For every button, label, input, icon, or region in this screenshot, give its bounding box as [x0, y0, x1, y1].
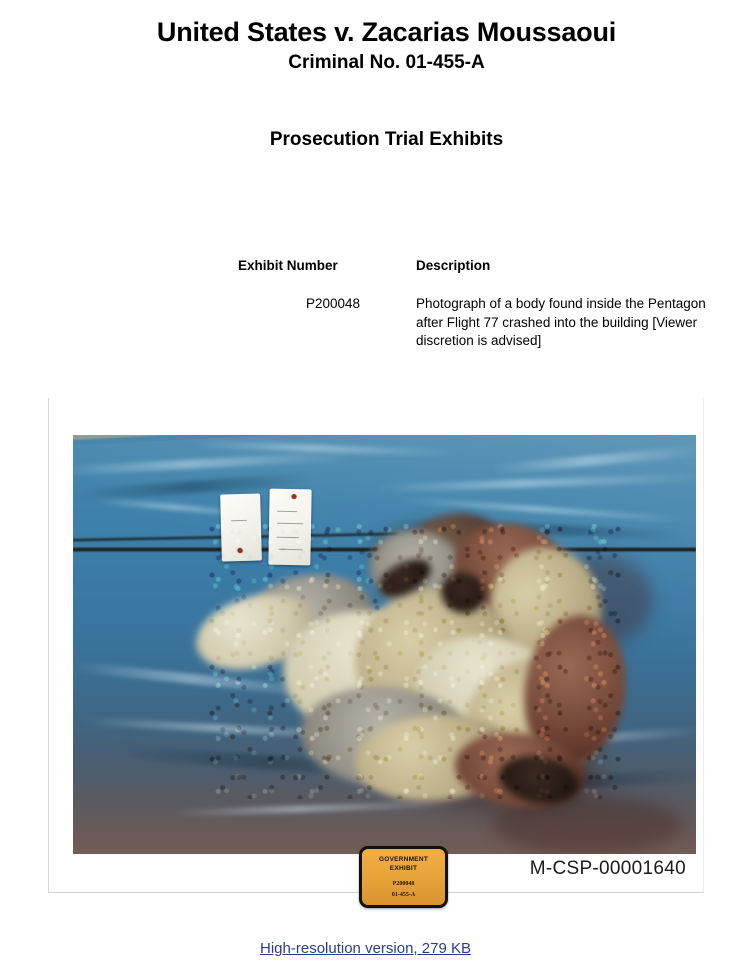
- tag-grommet: [291, 494, 296, 499]
- sticker-line-1: GOVERNMENT: [362, 855, 445, 864]
- exhibit-table: Exhibit Number Description P200048 Photo…: [238, 258, 708, 351]
- page-title: United States v. Zacarias Moussaoui: [0, 18, 731, 48]
- table-header-row: Exhibit Number Description: [238, 258, 708, 295]
- exhibit-photograph[interactable]: [73, 435, 696, 854]
- cell-description: Photograph of a body found inside the Pe…: [416, 295, 708, 351]
- sticker-case-number: 01-455-A: [362, 891, 445, 900]
- tarp-fold: [173, 800, 453, 817]
- exhibit-image-card: M-CSP-00001640 GOVERNMENT EXHIBIT P20004…: [48, 398, 704, 893]
- photo-footer-strip: M-CSP-00001640 GOVERNMENT EXHIBIT P20004…: [73, 854, 696, 892]
- mass-texture: [205, 519, 625, 799]
- government-exhibit-sticker: GOVERNMENT EXHIBIT P200048 01-455-A: [359, 846, 448, 908]
- high-resolution-link[interactable]: High-resolution version, 279 KB: [260, 940, 471, 957]
- column-header-exhibit-number: Exhibit Number: [238, 258, 416, 295]
- photo-canvas: [73, 435, 696, 854]
- case-number: Criminal No. 01-455-A: [0, 53, 731, 74]
- bates-number: M-CSP-00001640: [530, 858, 686, 880]
- column-header-description: Description: [416, 258, 708, 295]
- tag-writing: [277, 511, 297, 512]
- subject-remains: [205, 519, 625, 799]
- section-title: Prosecution Trial Exhibits: [0, 130, 731, 151]
- sticker-exhibit-number: P200048: [362, 880, 445, 889]
- table-row: P200048 Photograph of a body found insid…: [238, 295, 708, 351]
- high-resolution-link-container: High-resolution version, 279 KB: [0, 940, 731, 957]
- tarp-fold: [493, 446, 696, 474]
- sticker-line-2: EXHIBIT: [362, 864, 445, 873]
- tarp-fold: [373, 473, 696, 493]
- cell-exhibit-number: P200048: [238, 295, 416, 351]
